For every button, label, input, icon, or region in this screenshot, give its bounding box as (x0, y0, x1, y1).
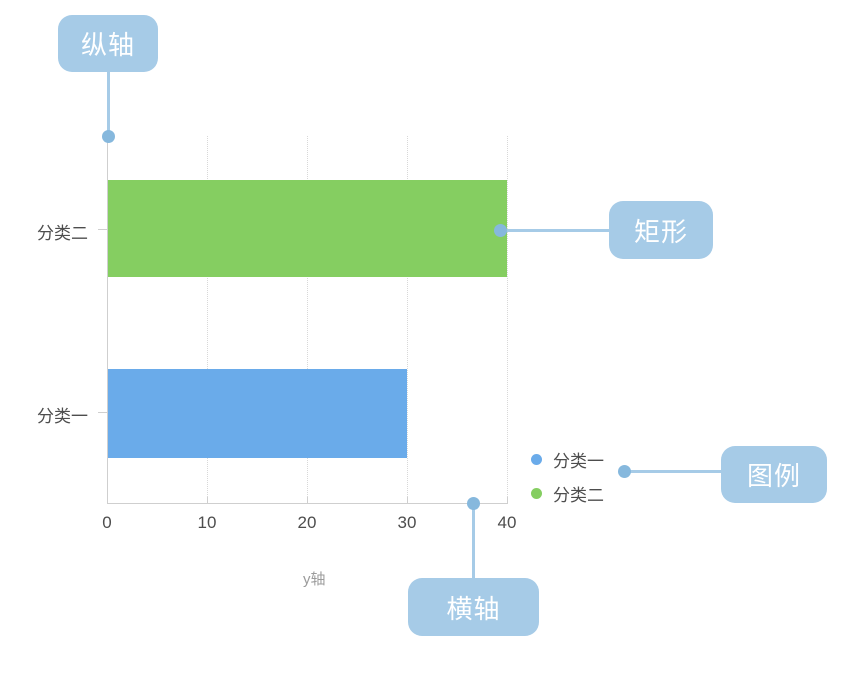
x-axis-title: y轴 (303, 568, 326, 589)
bar-category-2[interactable] (107, 180, 507, 277)
x-tick-label-30: 30 (377, 513, 437, 533)
annotation-legend-leader-dot (618, 465, 631, 478)
annotation-x-axis[interactable]: 横轴 (408, 578, 539, 636)
bar-category-1[interactable] (107, 369, 407, 458)
x-tick-label-40: 40 (477, 513, 537, 533)
legend-label-category-2: 分类二 (553, 481, 604, 506)
x-tick-20 (307, 497, 308, 503)
legend-label-category-1: 分类一 (553, 447, 604, 472)
legend-marker-icon-category-1 (531, 454, 542, 465)
x-tick-10 (207, 497, 208, 503)
x-tick-label-20: 20 (277, 513, 337, 533)
legend-item-category-1[interactable]: 分类一 (531, 446, 604, 472)
x-axis-line (107, 503, 508, 504)
x-tick-40 (507, 497, 508, 503)
y-tick-label-category-2: 分类二 (8, 219, 88, 244)
y-tick-label-category-1: 分类一 (8, 402, 88, 427)
annotation-rectangle-leader-line (500, 229, 612, 232)
legend-item-category-2[interactable]: 分类二 (531, 480, 604, 506)
annotation-x-axis-leader-dot (467, 497, 480, 510)
annotation-x-axis-leader-line (472, 508, 475, 580)
y-axis-line (107, 136, 108, 503)
x-tick-label-10: 10 (177, 513, 237, 533)
annotation-legend-leader-line (624, 470, 724, 473)
annotation-y-axis-label: 纵轴 (81, 25, 135, 62)
y-tick-category-2 (98, 229, 107, 230)
x-tick-label-0: 0 (77, 513, 137, 533)
legend-marker-icon-category-2 (531, 488, 542, 499)
annotation-x-axis-label: 横轴 (446, 589, 500, 626)
annotation-rectangle-leader-dot (494, 224, 507, 237)
annotation-legend[interactable]: 图例 (721, 446, 827, 503)
x-tick-30 (407, 497, 408, 503)
gridline-40 (507, 136, 508, 503)
bar-chart: 分类二 分类一 0 10 20 30 40 y轴 分类一 分类二 纵轴 矩形 图… (0, 0, 858, 674)
annotation-legend-label: 图例 (747, 456, 801, 493)
y-tick-category-1 (98, 412, 107, 413)
annotation-rectangle-label: 矩形 (634, 212, 688, 249)
plot-area (107, 136, 507, 503)
legend: 分类一 分类二 (531, 446, 604, 514)
annotation-rectangle[interactable]: 矩形 (609, 201, 713, 259)
annotation-y-axis-leader-line (107, 72, 110, 134)
annotation-y-axis-leader-dot (102, 130, 115, 143)
annotation-y-axis[interactable]: 纵轴 (58, 15, 158, 72)
x-tick-0 (107, 497, 108, 503)
